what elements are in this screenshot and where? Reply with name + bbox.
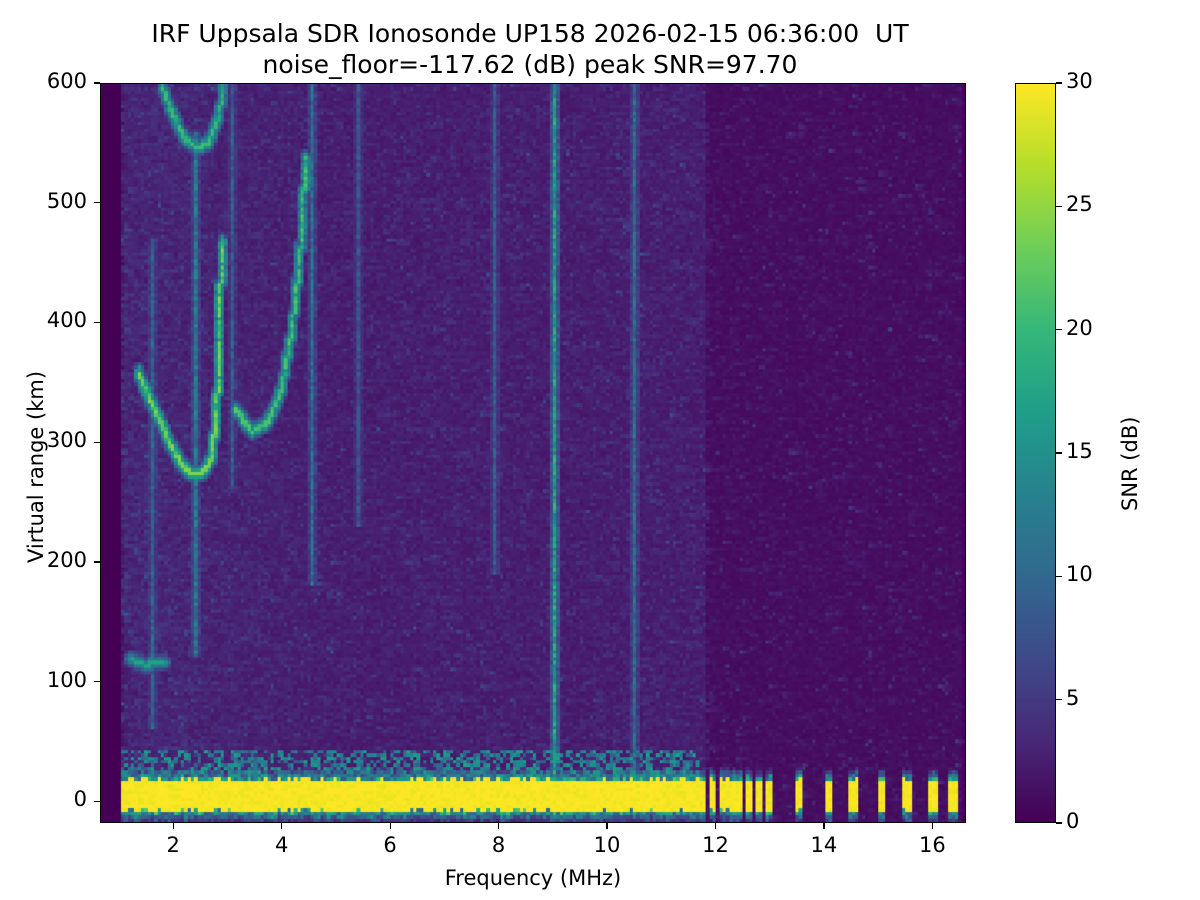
y-axis-label: Virtual range (km) xyxy=(24,371,48,563)
y-tick-mark xyxy=(94,82,100,83)
x-tick-mark xyxy=(932,823,933,829)
x-axis-label: Frequency (MHz) xyxy=(100,866,966,890)
y-tick-mark xyxy=(94,442,100,443)
ionogram-heatmap xyxy=(101,84,965,822)
y-tick-mark xyxy=(94,202,100,203)
colorbar-tick-mark xyxy=(1056,822,1062,823)
colorbar-tick-label: 30 xyxy=(1066,69,1126,93)
x-tick-label: 14 xyxy=(794,833,854,857)
plot-axes xyxy=(100,83,966,823)
y-tick-label: 600 xyxy=(15,69,87,93)
x-tick-mark xyxy=(606,823,607,829)
colorbar xyxy=(1015,83,1056,823)
title-line-secondary: noise_floor=-117.62 (dB) peak SNR=97.70 xyxy=(0,49,1060,80)
colorbar-gradient xyxy=(1015,83,1056,823)
colorbar-tick-mark xyxy=(1056,699,1062,700)
x-tick-label: 12 xyxy=(685,833,745,857)
y-tick-mark xyxy=(94,561,100,562)
y-tick-mark xyxy=(94,801,100,802)
y-tick-label: 500 xyxy=(15,189,87,213)
colorbar-label: SNR (dB) xyxy=(1118,417,1142,511)
x-tick-label: 2 xyxy=(143,833,203,857)
colorbar-tick-label: 10 xyxy=(1066,562,1126,586)
x-tick-mark xyxy=(823,823,824,829)
colorbar-tick-label: 15 xyxy=(1066,439,1126,463)
x-tick-label: 16 xyxy=(902,833,962,857)
x-tick-label: 6 xyxy=(360,833,420,857)
colorbar-tick-label: 20 xyxy=(1066,316,1126,340)
y-tick-label: 0 xyxy=(15,787,87,811)
colorbar-tick-mark xyxy=(1056,206,1062,207)
colorbar-tick-label: 5 xyxy=(1066,686,1126,710)
y-tick-label: 400 xyxy=(15,308,87,332)
x-tick-mark xyxy=(390,823,391,829)
colorbar-tick-mark xyxy=(1056,576,1062,577)
colorbar-tick-mark xyxy=(1056,452,1062,453)
figure-title: IRF Uppsala SDR Ionosonde UP158 2026-02-… xyxy=(0,18,1060,80)
y-tick-mark xyxy=(94,681,100,682)
title-line-primary: IRF Uppsala SDR Ionosonde UP158 2026-02-… xyxy=(0,18,1060,49)
colorbar-tick-label: 0 xyxy=(1066,809,1126,833)
x-tick-mark xyxy=(173,823,174,829)
colorbar-tick-mark xyxy=(1056,82,1062,83)
ionogram-figure: IRF Uppsala SDR Ionosonde UP158 2026-02-… xyxy=(0,0,1200,900)
colorbar-tick-mark xyxy=(1056,329,1062,330)
colorbar-tick-label: 25 xyxy=(1066,192,1126,216)
y-tick-mark xyxy=(94,322,100,323)
x-tick-label: 8 xyxy=(469,833,529,857)
x-tick-mark xyxy=(498,823,499,829)
x-tick-mark xyxy=(715,823,716,829)
x-tick-label: 4 xyxy=(252,833,312,857)
y-tick-label: 100 xyxy=(15,668,87,692)
x-tick-mark xyxy=(281,823,282,829)
x-tick-label: 10 xyxy=(577,833,637,857)
